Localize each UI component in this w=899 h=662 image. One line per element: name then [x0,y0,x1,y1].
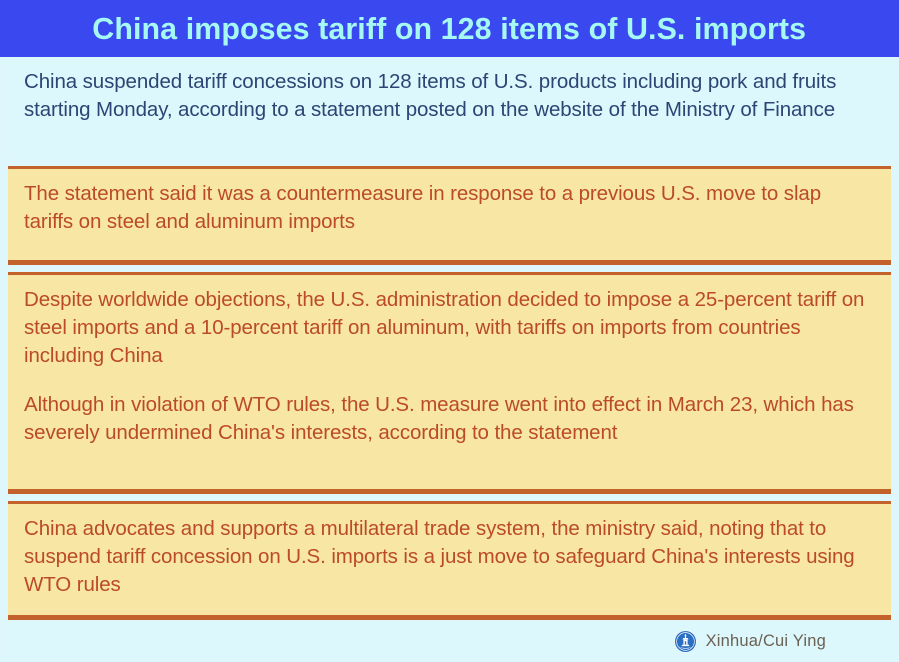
paragraph: The statement said it was a countermeasu… [24,180,875,236]
paragraph: Although in violation of WTO rules, the … [24,391,875,447]
headline-banner: China imposes tariff on 128 items of U.S… [0,0,899,57]
content-block-1: China suspended tariff concessions on 12… [8,57,891,159]
headline-title: China imposes tariff on 128 items of U.S… [93,13,807,44]
content-block-2-body: The statement said it was a countermeasu… [8,169,891,248]
content-block-3: Despite worldwide objections, the U.S. a… [8,272,891,494]
paragraph: Despite worldwide objections, the U.S. a… [24,286,875,370]
content-block-3-body: Despite worldwide objections, the U.S. a… [8,275,891,459]
paragraph: China suspended tariff concessions on 12… [24,68,875,124]
credit-group: Xinhua/Cui Ying [674,630,826,653]
content-block-2: The statement said it was a countermeasu… [8,166,891,265]
content-block-1-body: China suspended tariff concessions on 12… [8,57,891,136]
credit-text: Xinhua/Cui Ying [706,632,826,651]
paragraph: China advocates and supports a multilate… [24,515,875,599]
footer-bar: Xinhua/Cui Ying [8,620,891,662]
content-block-4: China advocates and supports a multilate… [8,501,891,620]
infographic-container: China imposes tariff on 128 items of U.S… [0,0,899,662]
xinhua-logo-icon [674,630,697,653]
content-block-4-body: China advocates and supports a multilate… [8,504,891,611]
